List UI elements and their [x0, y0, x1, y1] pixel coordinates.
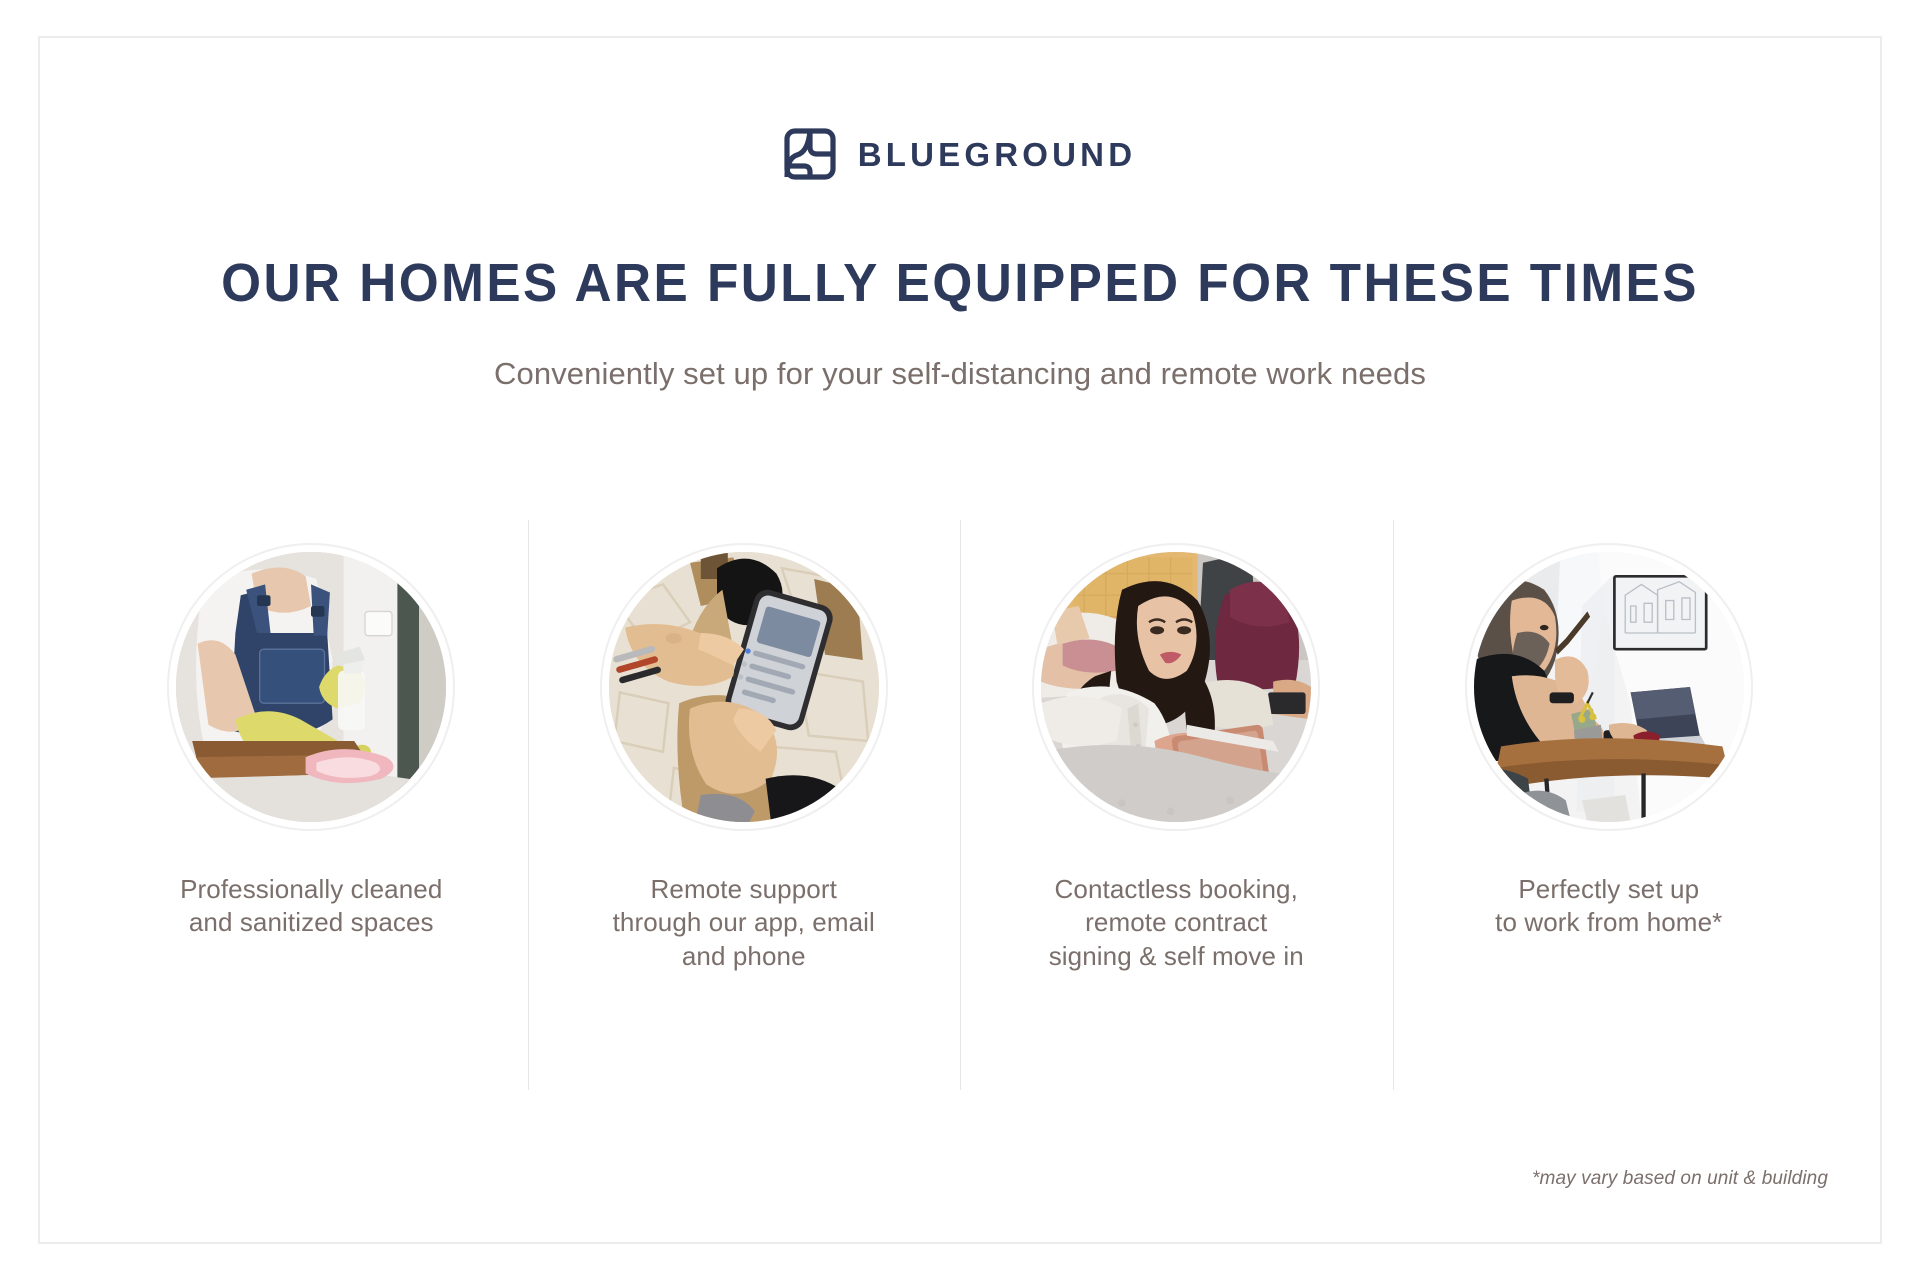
feature-image-ring: [600, 543, 888, 831]
promo-page: BLUEGROUND OUR HOMES ARE FULLY EQUIPPED …: [0, 0, 1920, 1280]
caption-line: remote contract: [1049, 906, 1304, 939]
page-title: OUR HOMES ARE FULLY EQUIPPED FOR THESE T…: [48, 255, 1872, 312]
feature-caption: Perfectly set up to work from home*: [1485, 873, 1732, 940]
brand-lockup: BLUEGROUND: [0, 128, 1920, 180]
feature-image-ring: [167, 543, 455, 831]
brand-name: BLUEGROUND: [858, 138, 1137, 171]
caption-line: to work from home*: [1495, 906, 1722, 939]
caption-line: Perfectly set up: [1495, 873, 1722, 906]
feature-caption: Professionally cleaned and sanitized spa…: [170, 873, 452, 940]
feature-columns: Professionally cleaned and sanitized spa…: [95, 520, 1825, 1090]
woman-on-bed-with-tablet-photo-icon: [1041, 552, 1311, 822]
feature-column-booking: Contactless booking, remote contract sig…: [960, 520, 1393, 1090]
caption-line: and phone: [613, 940, 875, 973]
caption-line: through our app, email: [613, 906, 875, 939]
caption-line: Professionally cleaned: [180, 873, 442, 906]
caption-line: Contactless booking,: [1049, 873, 1304, 906]
caption-line: signing & self move in: [1049, 940, 1304, 973]
cleaner-with-gloves-photo-icon: [176, 552, 446, 822]
hands-holding-smartphone-photo-icon: [609, 552, 879, 822]
feature-column-support: Remote support through our app, email an…: [528, 520, 961, 1090]
footnote-disclaimer: *may vary based on unit & building: [1532, 1168, 1828, 1190]
caption-line: Remote support: [613, 873, 875, 906]
feature-image-ring: [1032, 543, 1320, 831]
blueground-square-mark-icon: [784, 128, 836, 180]
caption-line: and sanitized spaces: [180, 906, 442, 939]
feature-image-ring: [1465, 543, 1753, 831]
feature-caption: Remote support through our app, email an…: [603, 873, 885, 973]
feature-column-cleaning: Professionally cleaned and sanitized spa…: [95, 520, 528, 1090]
feature-caption: Contactless booking, remote contract sig…: [1039, 873, 1314, 973]
man-working-at-desk-photo-icon: [1474, 552, 1744, 822]
page-subtitle: Conveniently set up for your self-distan…: [0, 355, 1920, 392]
feature-column-work-from-home: Perfectly set up to work from home*: [1393, 520, 1826, 1090]
